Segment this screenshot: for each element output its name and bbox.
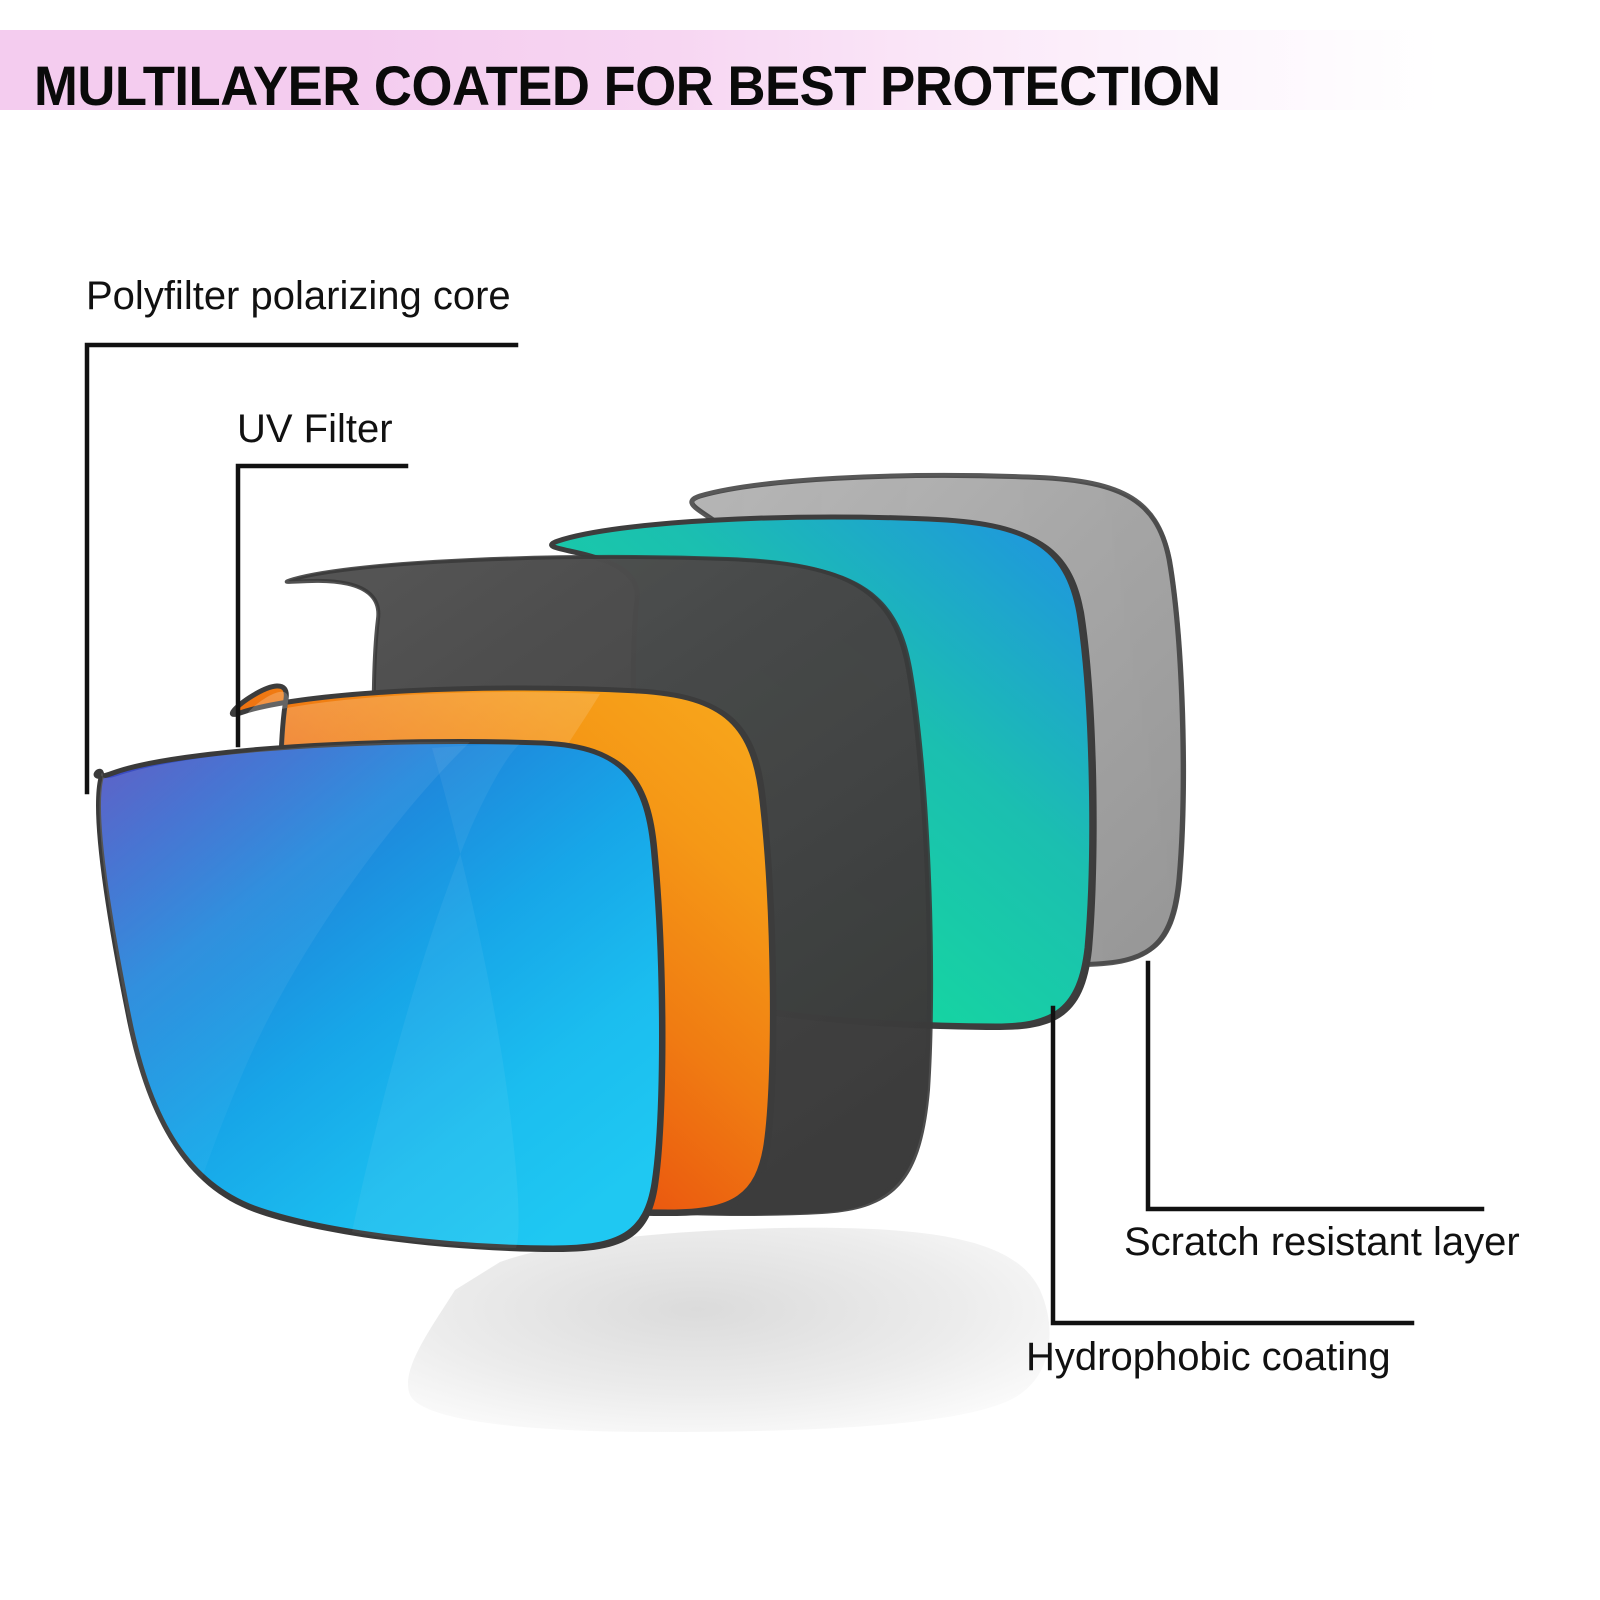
layer-blue-mirror-front-lens — [96, 740, 665, 1252]
leader-line-hydrophobic — [1053, 1008, 1412, 1323]
diagram-page: MULTILAYER COATED FOR BEST PROTECTION — [0, 0, 1600, 1600]
leader-line-scratch — [1148, 963, 1482, 1209]
callout-label-uv-filter: UV Filter — [237, 409, 393, 449]
callout-label-scratch-resistant: Scratch resistant layer — [1124, 1222, 1520, 1262]
callout-label-polyfilter: Polyfilter polarizing core — [86, 276, 511, 316]
callout-label-hydrophobic: Hydrophobic coating — [1026, 1337, 1391, 1377]
floor-reflection — [408, 1228, 1050, 1432]
